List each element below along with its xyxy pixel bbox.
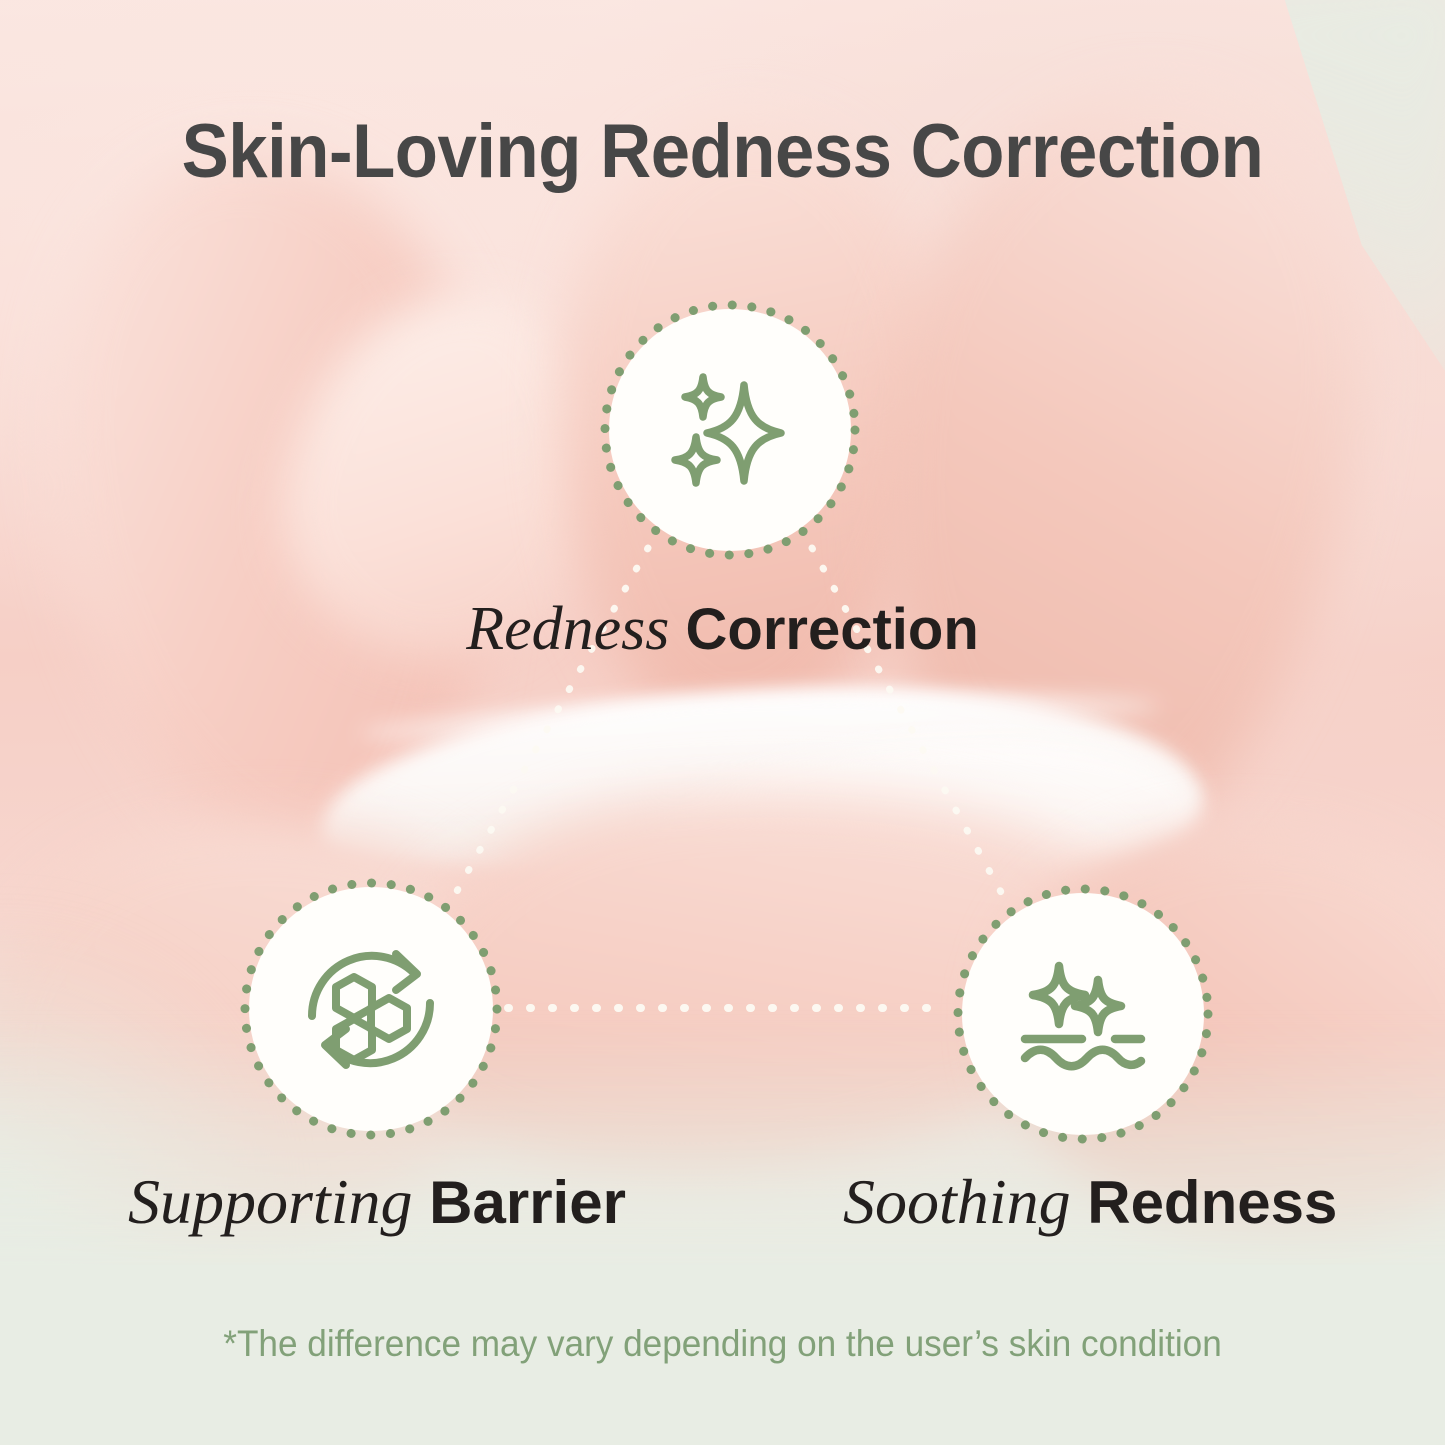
feature-label-redness-correction: Redness Correction	[0, 598, 1445, 660]
label-bold-part: Barrier	[429, 1169, 626, 1236]
soothing-skin-icon	[1003, 934, 1163, 1094]
label-bold-part: Redness	[1087, 1169, 1337, 1236]
page-title: Skin-Loving Redness Correction	[51, 108, 1395, 195]
feature-circle-soothing-redness[interactable]	[953, 884, 1213, 1144]
feature-circle-redness-correction[interactable]	[600, 300, 860, 560]
barrier-renewal-icon	[292, 930, 450, 1088]
label-italic-part: Redness	[466, 595, 669, 663]
feature-label-soothing-redness: Soothing Redness	[843, 1170, 1337, 1234]
sparkles-icon	[655, 355, 805, 505]
disclaimer-footnote: *The difference may vary depending on th…	[36, 1323, 1409, 1365]
infographic-canvas: Skin-Loving Redness Correction Redness C…	[0, 0, 1445, 1445]
label-bold-part: Correction	[686, 597, 979, 662]
feature-circle-supporting-barrier[interactable]	[240, 878, 502, 1140]
label-italic-part: Soothing	[843, 1166, 1071, 1237]
label-italic-part: Supporting	[128, 1166, 412, 1237]
feature-label-supporting-barrier: Supporting Barrier	[128, 1170, 626, 1234]
